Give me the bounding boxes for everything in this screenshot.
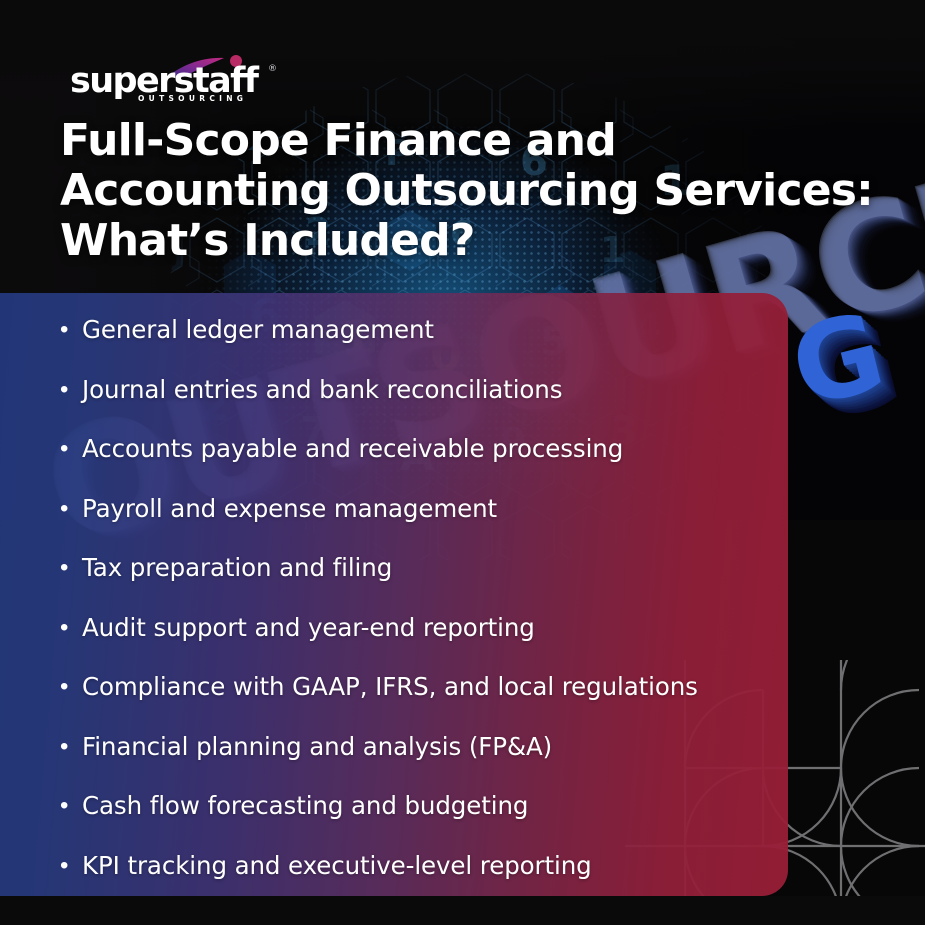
list-item-label: Journal entries and bank reconciliations [82, 373, 760, 407]
list-item-label: Audit support and year-end reporting [82, 611, 760, 645]
bullet-marker-icon: • [60, 492, 82, 526]
bullet-marker-icon: • [60, 611, 82, 645]
list-item-label: Cash flow forecasting and budgeting [82, 789, 760, 823]
bullet-marker-icon: • [60, 432, 82, 466]
poster-canvas: 2 P 6 1 2 6 1 8 6 1 0 5 4 8 2 7 A 9 3 C [0, 0, 925, 925]
list-item: •Audit support and year-end reporting [60, 611, 760, 671]
services-card-inner: •General ledger management•Journal entri… [0, 293, 788, 896]
services-card: •General ledger management•Journal entri… [0, 293, 788, 896]
list-item-label: Compliance with GAAP, IFRS, and local re… [82, 670, 760, 704]
list-item-label: Accounts payable and receivable processi… [82, 432, 760, 466]
list-item: •Accounts payable and receivable process… [60, 432, 760, 492]
brand-logo[interactable]: superstaff ® OUTSOURCING [70, 56, 300, 102]
list-item: •Financial planning and analysis (FP&A) [60, 730, 760, 790]
bullet-marker-icon: • [60, 730, 82, 764]
bottom-band [0, 896, 925, 925]
services-list: •General ledger management•Journal entri… [60, 313, 760, 896]
list-item: •Payroll and expense management [60, 492, 760, 552]
list-item: •Cash flow forecasting and budgeting [60, 789, 760, 849]
list-item: •Journal entries and bank reconciliation… [60, 373, 760, 433]
list-item-label: Financial planning and analysis (FP&A) [82, 730, 760, 764]
list-item-label: General ledger management [82, 313, 760, 347]
bullet-marker-icon: • [60, 373, 82, 407]
bullet-marker-icon: • [60, 789, 82, 823]
bullet-marker-icon: • [60, 670, 82, 704]
registered-trademark-icon: ® [268, 64, 277, 74]
list-item: •Compliance with GAAP, IFRS, and local r… [60, 670, 760, 730]
list-item-label: KPI tracking and executive-level reporti… [82, 849, 760, 883]
list-item-label: Tax preparation and filing [82, 551, 760, 585]
list-item: •Tax preparation and filing [60, 551, 760, 611]
bullet-marker-icon: • [60, 313, 82, 347]
page-title: Full-Scope Finance and Accounting Outsou… [60, 116, 875, 266]
list-item: •KPI tracking and executive-level report… [60, 849, 760, 897]
bullet-marker-icon: • [60, 849, 82, 883]
list-item-label: Payroll and expense management [82, 492, 760, 526]
logo-subtitle: OUTSOURCING [138, 94, 247, 103]
list-item: •General ledger management [60, 313, 760, 373]
bullet-marker-icon: • [60, 551, 82, 585]
